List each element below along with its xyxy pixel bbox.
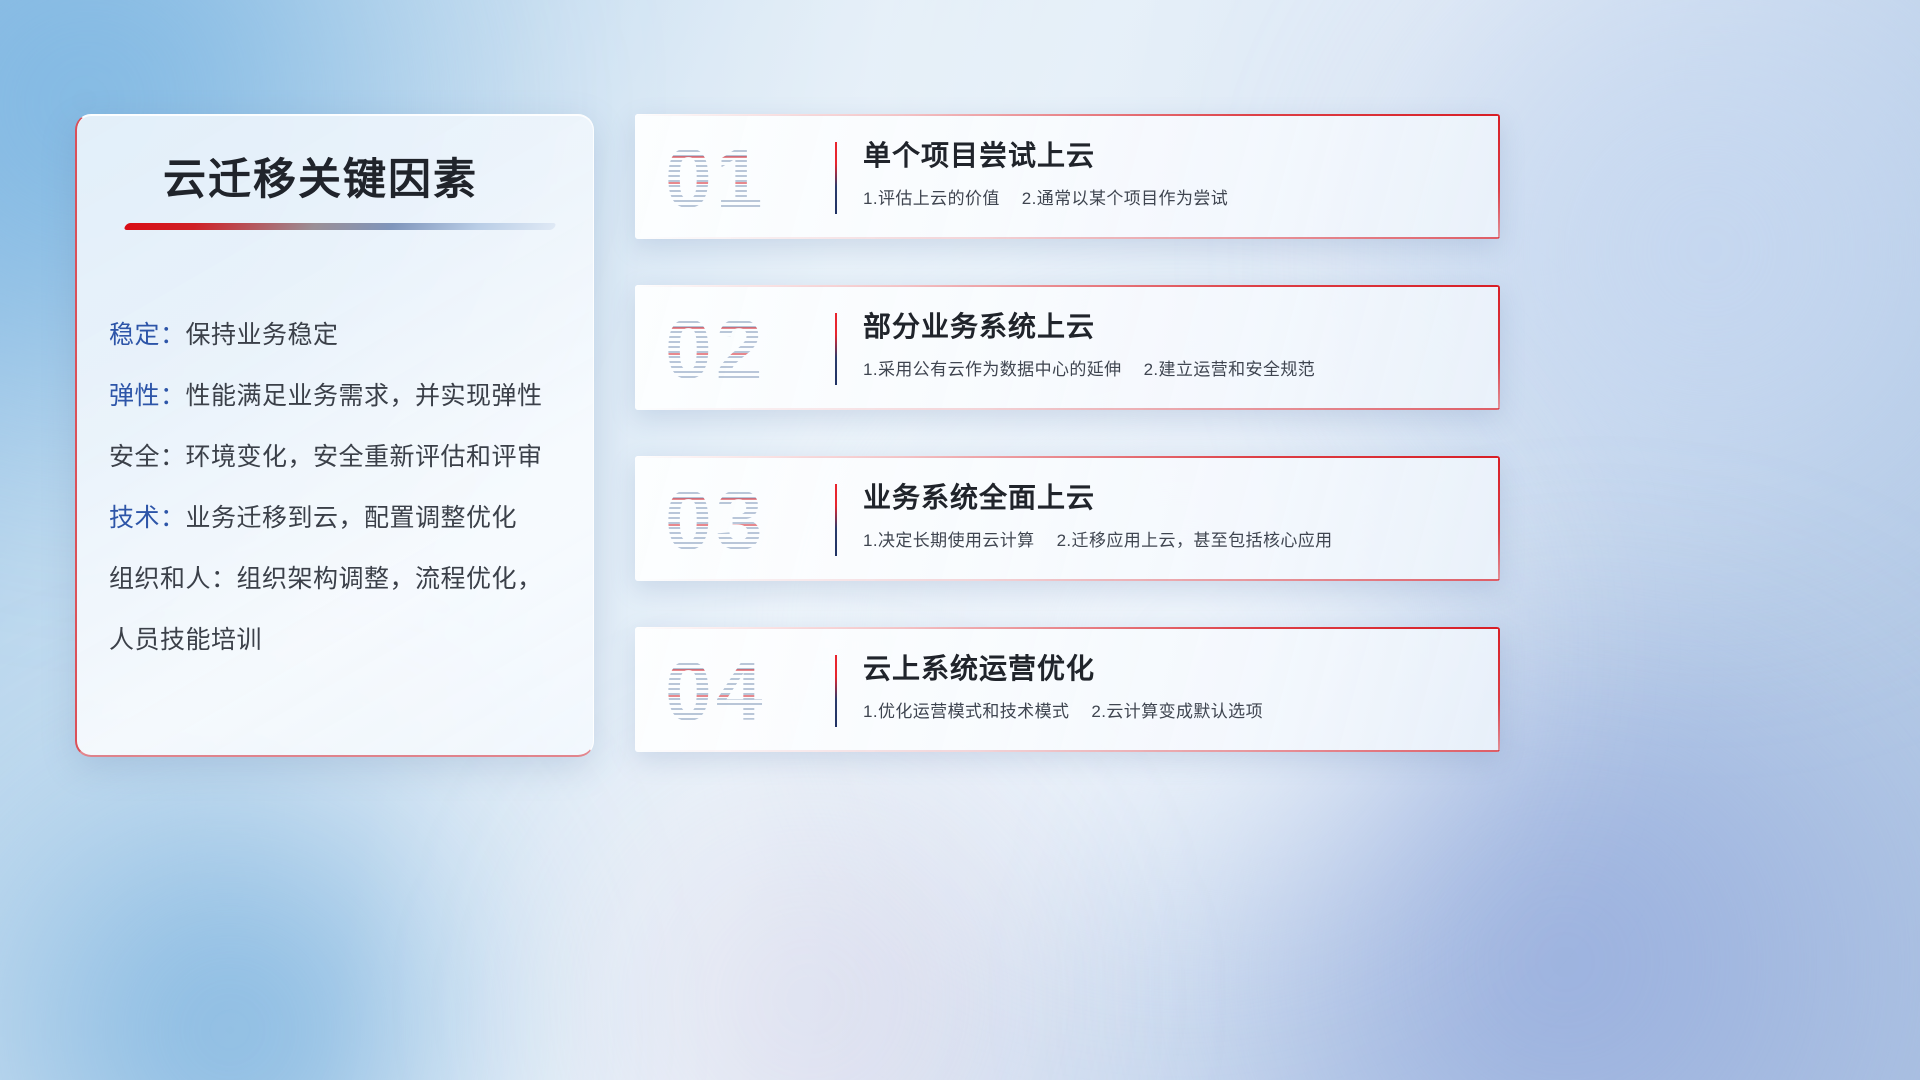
- title-underline-gradient: [123, 223, 557, 230]
- card-description-item: 2.建立运营和安全规范: [1144, 360, 1316, 379]
- card-description-item: 1.优化运营模式和技术模式: [863, 702, 1069, 721]
- card-description-item: 1.决定长期使用云计算: [863, 531, 1035, 550]
- key-factor-label: 技术：: [109, 504, 186, 532]
- migration-stage-card[interactable]: 0202部分业务系统上云1.采用公有云作为数据中心的延伸2.建立运营和安全规范: [635, 285, 1500, 410]
- card-vertical-divider: [835, 142, 837, 214]
- card-right-accent-line: [1498, 627, 1500, 752]
- card-description-item: 2.迁移应用上云，甚至包括核心应用: [1057, 531, 1333, 550]
- card-description: 1.优化运营模式和技术模式2.云计算变成默认选项: [863, 700, 1474, 724]
- key-factor-row: 人员技能培训: [109, 610, 579, 671]
- key-factor-label: 稳定：: [109, 321, 186, 349]
- key-factor-label: 弹性：: [109, 382, 186, 410]
- stage-number-striped: 02: [665, 301, 825, 397]
- card-title: 业务系统全面上云: [863, 478, 1474, 518]
- migration-stage-card[interactable]: 0303业务系统全面上云1.决定长期使用云计算2.迁移应用上云，甚至包括核心应用: [635, 456, 1500, 581]
- key-factors-list: 稳定：保持业务稳定弹性：性能满足业务需求，并实现弹性安全：环境变化，安全重新评估…: [109, 305, 579, 671]
- card-bottom-accent-line: [635, 579, 1500, 581]
- card-top-accent-line: [635, 456, 1500, 458]
- key-factor-text: 人员技能培训: [109, 626, 262, 654]
- stage-number-striped: 03: [665, 472, 825, 568]
- key-factor-text: 环境变化，安全重新评估和评审: [186, 443, 543, 471]
- card-bottom-accent-line: [635, 408, 1500, 410]
- card-top-accent-line: [635, 285, 1500, 287]
- migration-stage-card[interactable]: 0101单个项目尝试上云1.评估上云的价值2.通常以某个项目作为尝试: [635, 114, 1500, 239]
- card-title: 云上系统运营优化: [863, 649, 1474, 689]
- card-vertical-divider: [835, 313, 837, 385]
- card-description: 1.决定长期使用云计算2.迁移应用上云，甚至包括核心应用: [863, 529, 1474, 553]
- card-body: 云上系统运营优化1.优化运营模式和技术模式2.云计算变成默认选项: [863, 649, 1474, 724]
- card-description-item: 2.云计算变成默认选项: [1091, 702, 1263, 721]
- card-top-accent-line: [635, 627, 1500, 629]
- stage-number-striped: 04: [665, 643, 825, 739]
- key-factor-row: 安全：环境变化，安全重新评估和评审: [109, 427, 579, 488]
- key-factor-row: 稳定：保持业务稳定: [109, 305, 579, 366]
- card-right-accent-line: [1498, 285, 1500, 410]
- key-factor-text: 保持业务稳定: [186, 321, 339, 349]
- key-factor-text: 组织架构调整，流程优化，: [237, 565, 543, 593]
- card-description: 1.采用公有云作为数据中心的延伸2.建立运营和安全规范: [863, 358, 1474, 382]
- card-bottom-accent-line: [635, 750, 1500, 752]
- card-title: 部分业务系统上云: [863, 307, 1474, 347]
- key-factor-label: 组织和人：: [109, 565, 237, 593]
- stage-number-striped: 01: [665, 130, 825, 226]
- card-description: 1.评估上云的价值2.通常以某个项目作为尝试: [863, 187, 1474, 211]
- card-body: 业务系统全面上云1.决定长期使用云计算2.迁移应用上云，甚至包括核心应用: [863, 478, 1474, 553]
- card-body: 部分业务系统上云1.采用公有云作为数据中心的延伸2.建立运营和安全规范: [863, 307, 1474, 382]
- card-description-item: 2.通常以某个项目作为尝试: [1022, 189, 1228, 208]
- key-factor-row: 技术：业务迁移到云，配置调整优化: [109, 488, 579, 549]
- key-factor-row: 组织和人：组织架构调整，流程优化，: [109, 549, 579, 610]
- card-right-accent-line: [1498, 456, 1500, 581]
- key-factor-label: 安全：: [109, 443, 186, 471]
- key-factor-text: 性能满足业务需求，并实现弹性: [186, 382, 543, 410]
- card-description-item: 1.采用公有云作为数据中心的延伸: [863, 360, 1122, 379]
- card-bottom-accent-line: [635, 237, 1500, 239]
- card-top-accent-line: [635, 114, 1500, 116]
- card-vertical-divider: [835, 655, 837, 727]
- key-factor-row: 弹性：性能满足业务需求，并实现弹性: [109, 366, 579, 427]
- page-title: 云迁移关键因素: [163, 145, 478, 207]
- card-title: 单个项目尝试上云: [863, 136, 1474, 176]
- card-right-accent-line: [1498, 114, 1500, 239]
- card-description-item: 1.评估上云的价值: [863, 189, 1000, 208]
- key-factor-text: 业务迁移到云，配置调整优化: [186, 504, 518, 532]
- key-factors-panel: 云迁移关键因素 稳定：保持业务稳定弹性：性能满足业务需求，并实现弹性安全：环境变…: [75, 114, 594, 757]
- migration-stage-card[interactable]: 0404云上系统运营优化1.优化运营模式和技术模式2.云计算变成默认选项: [635, 627, 1500, 752]
- migration-stage-cards: 0101单个项目尝试上云1.评估上云的价值2.通常以某个项目作为尝试0202部分…: [635, 114, 1500, 798]
- slide-content: 云迁移关键因素 稳定：保持业务稳定弹性：性能满足业务需求，并实现弹性安全：环境变…: [0, 0, 1920, 1080]
- card-body: 单个项目尝试上云1.评估上云的价值2.通常以某个项目作为尝试: [863, 136, 1474, 211]
- card-vertical-divider: [835, 484, 837, 556]
